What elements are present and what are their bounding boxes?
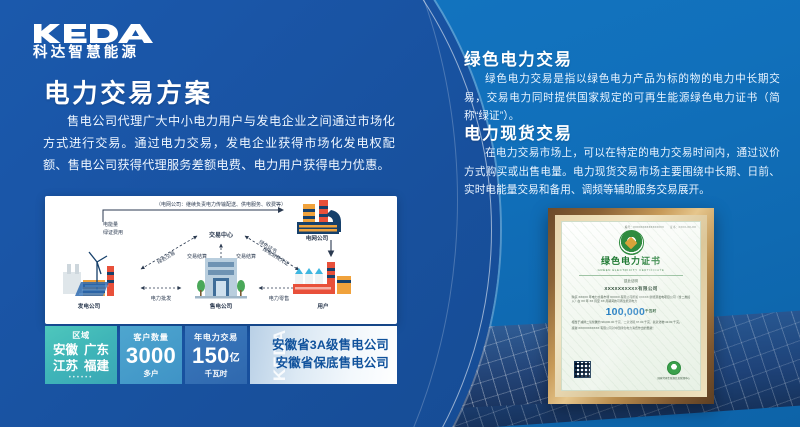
diagram-node-user-art (293, 262, 351, 294)
diagram-top-note: （电网公司：继续负责电力传输配送、供电服务、收费等） (156, 201, 286, 208)
certificate-issuer: 国家可再生能源信息管理中心 (657, 361, 690, 380)
certificate-issuer-name: 国家可再生能源信息管理中心 (657, 376, 690, 380)
stat-region-dots: •••••• (69, 375, 94, 381)
section-title-spot-trading: 电力现货交易 (464, 120, 573, 144)
certificate-divider (579, 275, 684, 276)
certificate-organization: XXXXXXXXXX有限公司 (604, 286, 657, 292)
certificate-mat: 编号：XXXXXXXXXXXXXXXX 证书：XXXX-XX-XX 绿色电力证书… (555, 215, 707, 397)
brand-logo-chinese: 科达智慧能源 (33, 46, 163, 62)
qualification-badge: KEDA 安徽省3A级售电公司 安徽省保底售电公司 (250, 326, 397, 384)
certificate-seal-icon (619, 230, 644, 255)
diagram-label-energy: 电能量 (103, 221, 118, 228)
region-item: 福建 (84, 359, 109, 374)
diagram-node-user: 用户 (316, 302, 328, 310)
keda-logotype-icon (33, 22, 159, 45)
region-item: 江苏 (53, 359, 78, 374)
stat-customers-caption: 客户数量 (133, 331, 168, 343)
section-body-spot-trading: 在电力交易市场上，可以在特定的电力交易时间内，通过议价方式购买或出售电量。电力现… (464, 144, 780, 200)
diagram-label-cert-fee: 绿证费用 (103, 229, 123, 236)
certificate-qr-code-icon (574, 361, 591, 378)
diagram-node-seller: 售电公司 (210, 302, 233, 310)
certificate-detail: 相当于减排二氧化碳约 99,000.00 千克、二氧化硫 67.00 千克、氮氧… (572, 320, 691, 325)
brand-logo: 科达智慧能源 (33, 22, 163, 62)
badge-text: 安徽省3A级售电公司 安徽省保底售电公司 (272, 337, 389, 372)
stat-volume-unit: 亿 (230, 353, 240, 364)
diagram-node-grid: 电网公司 (306, 234, 329, 242)
certificate-footer: 感谢 XXXXXXXXXXX 有限公司对中国绿色电力消费作出的贡献！ (572, 326, 691, 331)
green-certificate: 编号：XXXXXXXXXXXXXXXX 证书：XXXX-XX-XX 绿色电力证书… (548, 208, 714, 404)
stat-customers-value: 3000 (126, 344, 176, 367)
diagram-center-title: 交易中心 (209, 231, 233, 239)
certificate-code-right: 证书：XXXX-XX-XX (670, 225, 696, 229)
certificate-amount-wrap: 100,000千瓦时 (606, 306, 657, 318)
stats-strip: 区域 安徽 广东 江苏 福建 •••••• 客户数量 3000 多户 年电力交易… (45, 326, 397, 384)
certificate-frame: 编号：XXXXXXXXXXXXXXXX 证书：XXXX-XX-XX 绿色电力证书… (548, 208, 714, 404)
certificate-amount-unit: 千瓦时 (645, 309, 656, 313)
certificate-paper: 编号：XXXXXXXXXXXXXXXX 证书：XXXX-XX-XX 绿色电力证书… (561, 221, 701, 391)
certificate-amount: 100,000 (606, 306, 645, 318)
diagram-node-seller-art (195, 258, 247, 299)
certificate-attest: 兹此证明 (624, 278, 638, 283)
stat-region-caption: 区域 (72, 329, 90, 341)
certificate-body: 购买 XXXXX 年电力交易市场 XXXXX 有限公司所属 XXXXX 新能源发… (572, 295, 691, 304)
stat-volume-value-wrap: 150亿 (192, 344, 240, 367)
stat-volume-caption: 年电力交易 (194, 331, 238, 343)
diagram-settle-right: 交易结算 (236, 253, 256, 260)
stat-card-annual-volume: 年电力交易 150亿 千瓦时 (185, 326, 247, 384)
certificate-subtitle: GREEN ELECTRICITY CERTIFICATE (598, 268, 665, 272)
stat-volume-sub: 千瓦时 (205, 368, 228, 379)
certificate-header-codes: 编号：XXXXXXXXXXXXXXXX 证书：XXXX-XX-XX (562, 222, 700, 229)
region-item: 广东 (84, 343, 109, 358)
trading-flow-diagram-svg: （电网公司：继续负责电力传输配送、供电服务、收费等） 电能量 绿证费用 交易中心… (45, 196, 397, 324)
diagram-settle-left: 交易结算 (187, 253, 207, 260)
diagram-retail: 电力零售 (269, 294, 290, 302)
section-title-green-power: 绿色电力交易 (464, 46, 573, 70)
poster-canvas: 科达智慧能源 电力交易方案 售电公司代理广大中小电力用户与发电企业之间通过市场化… (0, 0, 800, 427)
page-title: 电力交易方案 (44, 73, 213, 110)
certificate-code-left: 编号：XXXXXXXXXXXXXXXX (625, 225, 664, 229)
trading-flow-diagram: （电网公司：继续负责电力传输配送、供电服务、收费等） 电能量 绿证费用 交易中心… (45, 196, 397, 324)
region-item: 安徽 (53, 343, 78, 358)
badge-line-2: 安徽省保底售电公司 (272, 355, 389, 373)
stat-region-values: 安徽 广东 江苏 福建 (53, 343, 109, 374)
intro-paragraph: 售电公司代理广大中小电力用户与发电企业之间通过市场化方式进行交易。通过电力交易，… (43, 110, 395, 177)
badge-line-1: 安徽省3A级售电公司 (272, 337, 389, 355)
stat-customers-sub: 多户 (143, 368, 158, 379)
diagram-wholesale: 电力批发 (151, 294, 172, 302)
stat-card-customers: 客户数量 3000 多户 (120, 326, 182, 384)
diagram-node-generation: 发电公司 (77, 302, 101, 310)
diagram-node-grid-art (297, 200, 341, 234)
certificate-issuer-logo-icon (667, 361, 681, 375)
diagram-node-generation-art (63, 252, 114, 296)
certificate-title: 绿色电力证书 (601, 257, 661, 267)
diagram-green-trade: 绿色交易 (156, 250, 177, 266)
stat-volume-value: 150 (192, 343, 230, 368)
stat-card-region: 区域 安徽 广东 江苏 福建 •••••• (45, 326, 117, 384)
section-body-green-power: 绿色电力交易是指以绿色电力产品为标的物的电力中长期交易，交易电力同时提供国家规定… (464, 70, 780, 126)
